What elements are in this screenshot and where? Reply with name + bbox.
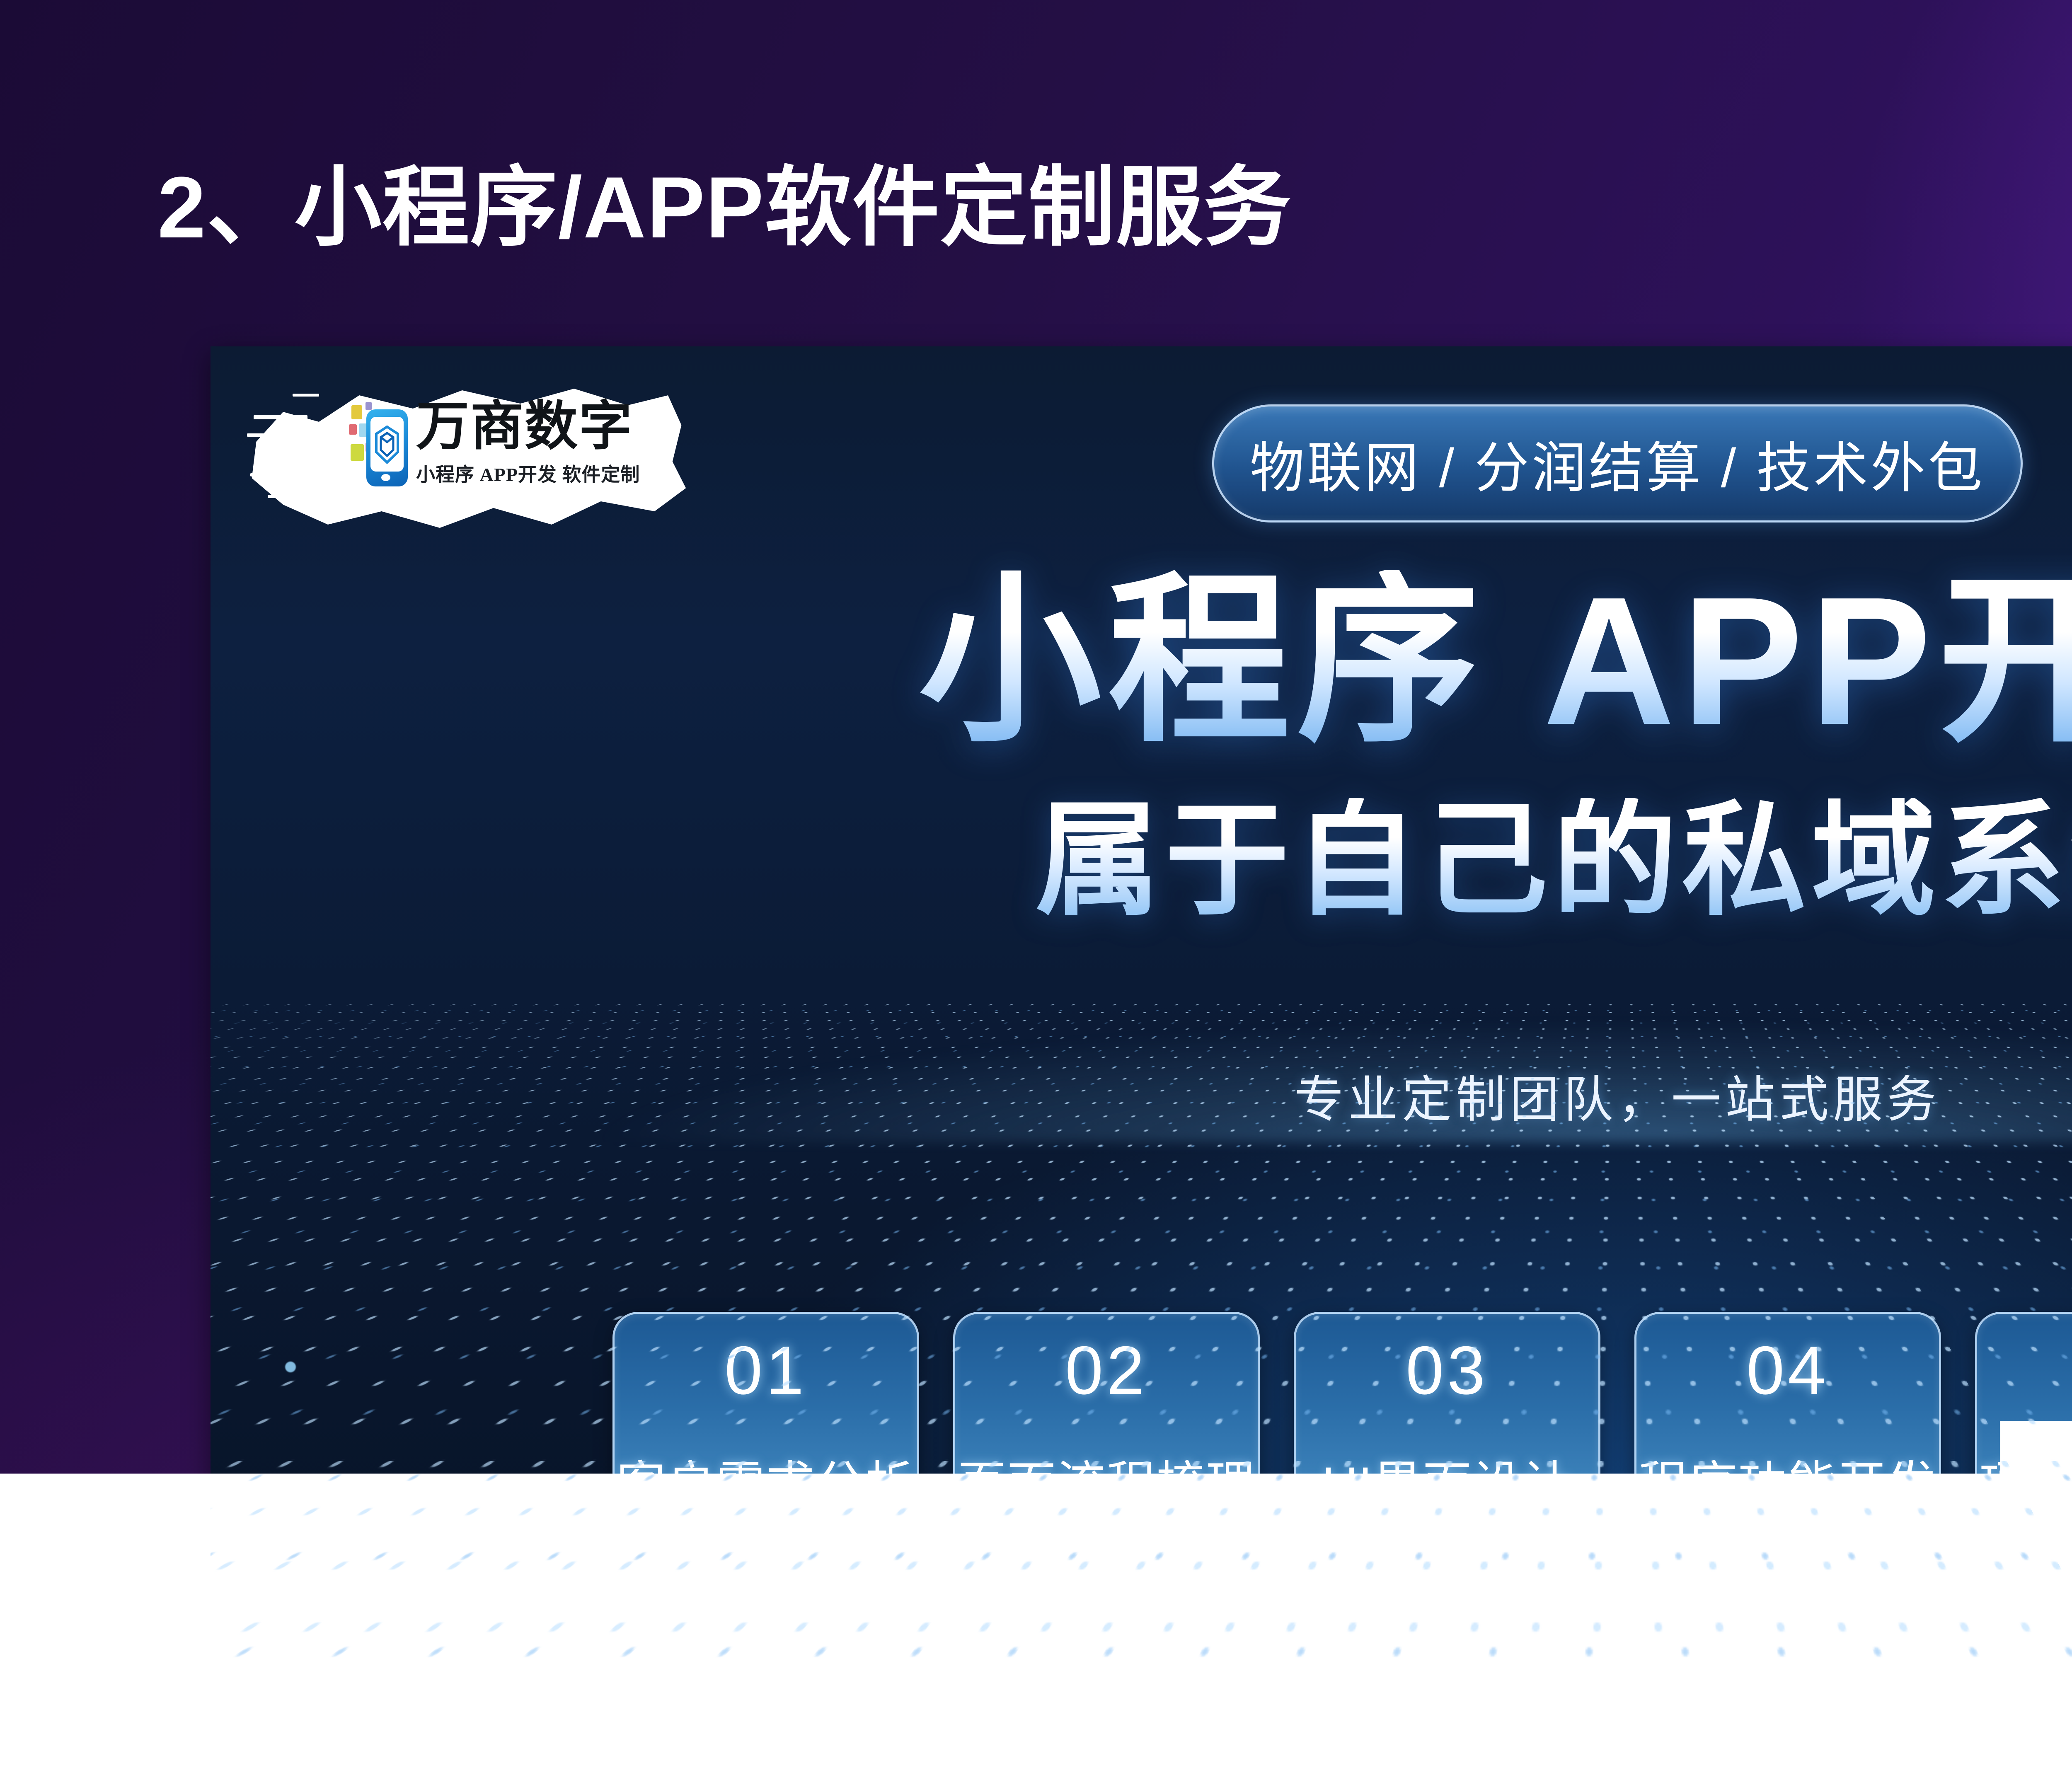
- step-number: 02: [1065, 1336, 1148, 1405]
- step-label: UI界面设计: [1322, 1444, 1572, 1515]
- banner-logo-brand: 万商数字: [416, 400, 640, 453]
- step-label: 客户需求分析: [617, 1444, 915, 1515]
- step-number: 01: [724, 1336, 807, 1405]
- step-card-04[interactable]: 04 程序功能开发: [1634, 1312, 1941, 1544]
- step-label: 页面流程梳理: [957, 1444, 1256, 1515]
- banner-brand-logo: 万商数字 小程序 APP开发 软件定制: [243, 375, 690, 541]
- step-number: 04: [1746, 1336, 1829, 1405]
- banner-hexagon-swirl-icon: [375, 425, 399, 464]
- service-pill-badge: 物联网 / 分润结算 / 技术外包: [1212, 404, 2023, 522]
- banner-headline: 小程序 APP开发: [919, 570, 2072, 752]
- presentation-slide: 2、小程序/APP软件定制服务 万商数字: [0, 0, 2072, 1790]
- step-number: 03: [1406, 1336, 1489, 1405]
- banner-logo-tagline: 小程序 APP开发 软件定制: [416, 460, 640, 487]
- step-card-03[interactable]: 03 UI界面设计: [1294, 1312, 1600, 1544]
- step-card-01[interactable]: 01 客户需求分析: [612, 1312, 919, 1544]
- step-label: 项目审核发布: [1979, 1444, 2072, 1515]
- banner-brand-mark-icon: [346, 398, 409, 489]
- promo-banner: 万商数字 小程序 APP开发 软件定制 物联网 / 分润结算 / 技术外包 小程…: [211, 346, 2072, 1681]
- process-step-cards: 01 客户需求分析 02 页面流程梳理 03 UI界面设计 04 程序功能开发 …: [211, 1312, 2072, 1544]
- banner-subheadline: 属于自己的私域系统: [1036, 798, 2072, 922]
- banner-tagline: 专业定制团队，一站式服务: [1294, 1059, 1941, 1131]
- step-label: 程序功能开发: [1639, 1444, 1937, 1515]
- step-card-02[interactable]: 02 页面流程梳理: [953, 1312, 1260, 1544]
- page-title: 2、小程序/APP软件定制服务: [157, 137, 1292, 263]
- step-card-05[interactable]: 05 项目审核发布: [1975, 1312, 2072, 1544]
